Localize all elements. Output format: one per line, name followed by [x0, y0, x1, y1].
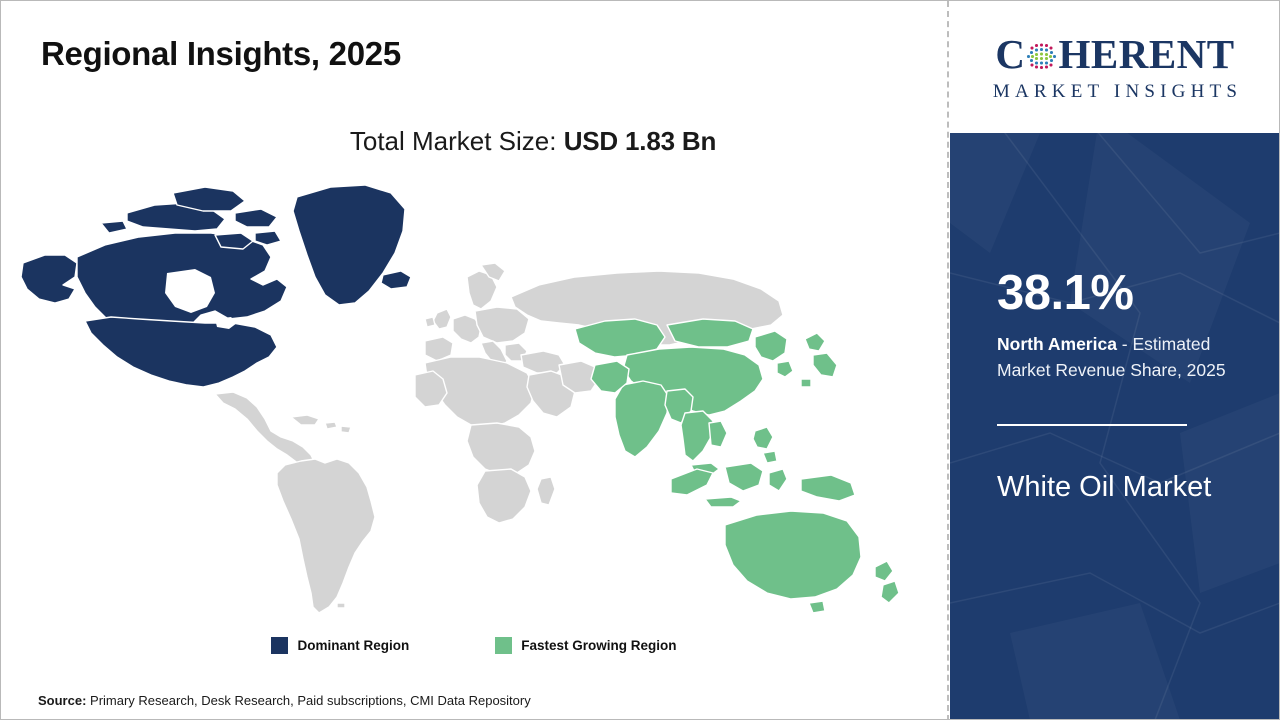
source-prefix: Source: [38, 693, 86, 708]
panel-texture-overlay [950, 133, 1280, 720]
report-title: White Oil Market [997, 465, 1211, 509]
page-title: Regional Insights, 2025 [41, 35, 401, 73]
left-content-pane: Regional Insights, 2025 Total Market Siz… [1, 1, 947, 720]
stat-panel: 38.1% North America - Estimated Market R… [950, 133, 1280, 720]
legend-label-growing: Fastest Growing Region [521, 638, 676, 653]
dotted-globe-icon [1026, 41, 1057, 72]
total-market-size-label: Total Market Size: [350, 126, 564, 156]
logo-brand-part2: HERENT [1058, 34, 1234, 75]
legend-item-growing: Fastest Growing Region [495, 637, 676, 654]
square-swatch-icon-dominant [271, 637, 288, 654]
map-legend: Dominant Region Fastest Growing Region [1, 637, 947, 654]
regional-insights-infographic: Regional Insights, 2025 Total Market Siz… [0, 0, 1280, 720]
source-text: Primary Research, Desk Research, Paid su… [86, 693, 530, 708]
panel-divider-rule [997, 424, 1187, 426]
legend-label-dominant: Dominant Region [297, 638, 409, 653]
logo-wordmark: C [995, 34, 1234, 75]
map-region-dominant [21, 185, 411, 387]
map-region-growing [575, 319, 899, 613]
source-note: Source: Primary Research, Desk Research,… [38, 693, 531, 708]
stat-panel-content: 38.1% North America - Estimated Market R… [997, 269, 1262, 384]
stat-description: North America - Estimated Market Revenue… [997, 332, 1259, 384]
stat-value: 38.1% [997, 269, 1262, 318]
square-swatch-icon-growing [495, 637, 512, 654]
logo-tagline: MARKET INSIGHTS [988, 82, 1242, 101]
world-map-svg [19, 179, 919, 619]
stat-region-name: North America [997, 334, 1117, 354]
total-market-size: Total Market Size: USD 1.83 Bn [1, 126, 947, 157]
logo-brand-part1: C [995, 34, 1025, 75]
legend-item-dominant: Dominant Region [271, 637, 409, 654]
vertical-dashed-divider [947, 1, 949, 720]
company-logo: C [950, 2, 1280, 133]
total-market-size-value: USD 1.83 Bn [564, 126, 716, 156]
world-map-container [19, 179, 919, 619]
